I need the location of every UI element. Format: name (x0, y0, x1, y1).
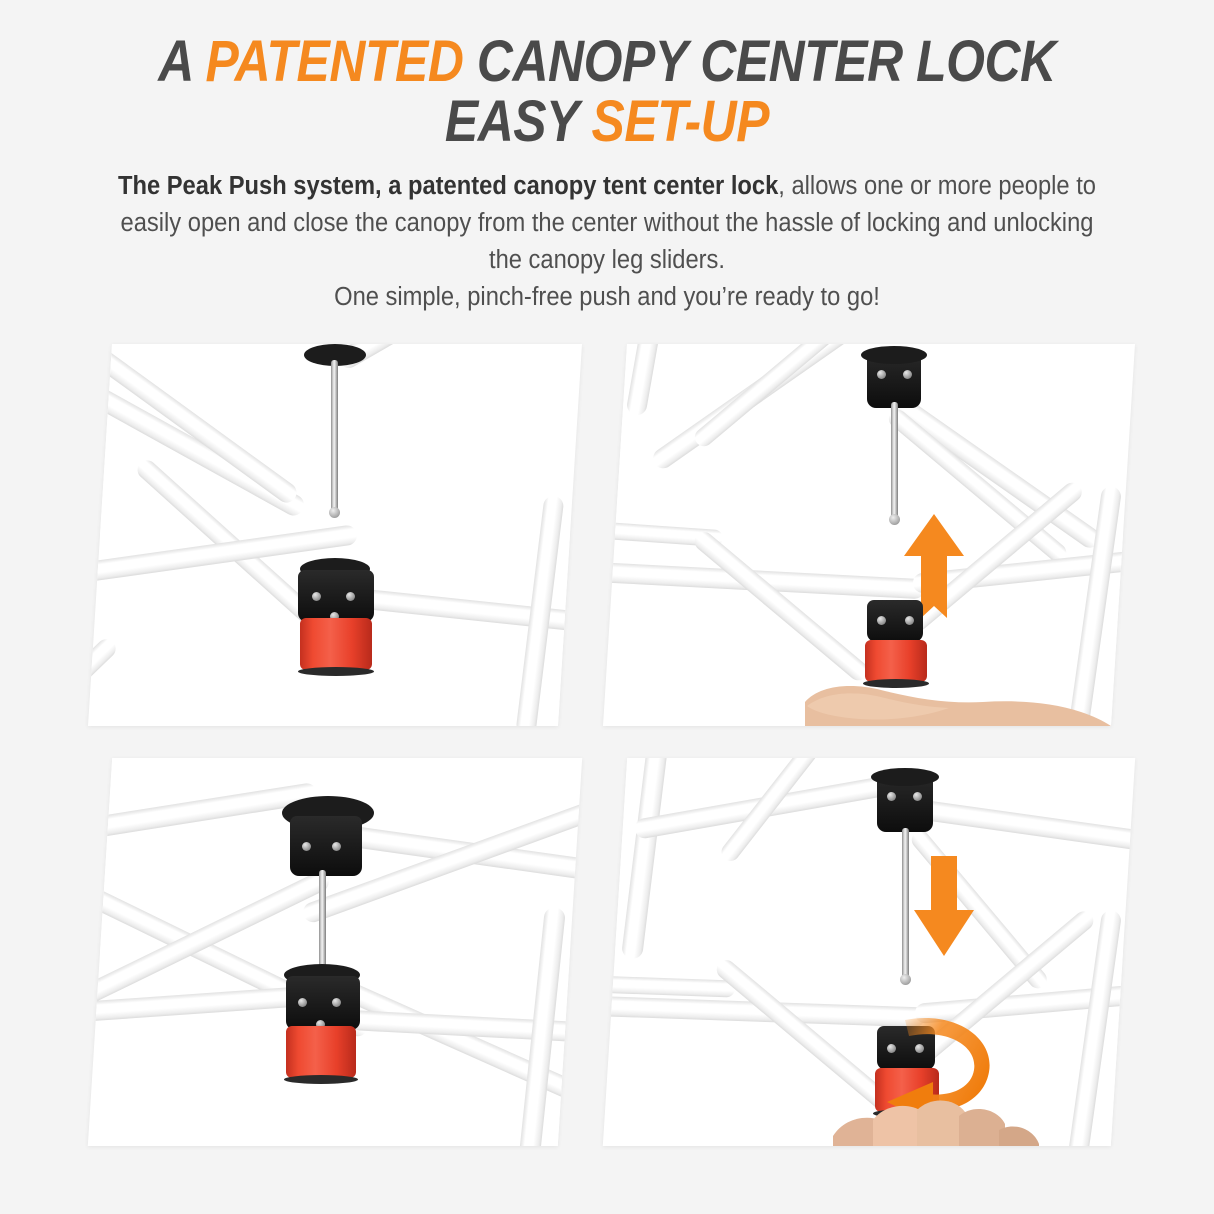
description-closing: One simple, pinch-free push and you’re r… (334, 283, 880, 311)
center-rod (319, 870, 326, 976)
arrow-down-icon (911, 854, 977, 958)
panel-locked-open-photo (100, 758, 570, 1146)
lower-hub-body (867, 600, 923, 642)
frame-tube (1068, 909, 1123, 1146)
hub-screw (298, 998, 307, 1007)
upper-hub-cap (871, 768, 939, 786)
hub-screw (332, 998, 341, 1007)
hub-screw (877, 616, 886, 625)
infographic-page: A PATENTED CANOPY CENTER LOCK EASY SET-U… (0, 0, 1214, 1214)
center-lock-red (286, 1026, 356, 1078)
center-rod (331, 360, 338, 512)
panel-push-up-photo (615, 344, 1123, 726)
frame-tube (605, 976, 736, 998)
headline-accent-patented: PATENTED (205, 29, 463, 94)
frame-tube (621, 758, 670, 960)
frame-tube (335, 344, 582, 372)
panel-folded-photo (100, 344, 570, 726)
center-lock-red (300, 618, 372, 670)
panel-twist-release (603, 758, 1135, 1146)
frame-tube (88, 344, 301, 507)
header: A PATENTED CANOPY CENTER LOCK EASY SET-U… (0, 0, 1214, 316)
panel-folded (88, 344, 582, 726)
rod-tip (900, 974, 911, 985)
panel-locked-open (88, 758, 582, 1146)
description-bold-lead: The Peak Push system, a patented canopy … (118, 172, 778, 200)
upper-hub-cap (861, 346, 927, 364)
hub-screw (913, 792, 922, 801)
upper-hub-body (290, 816, 362, 876)
hub-screw (903, 370, 912, 379)
page-title-line-1: A PATENTED CANOPY CENTER LOCK (85, 34, 1129, 90)
center-rod (902, 828, 909, 978)
hub-screw (312, 592, 321, 601)
headline-accent-setup: SET-UP (592, 89, 770, 154)
frame-tube (625, 344, 664, 417)
center-rod (891, 402, 898, 518)
panel-grid (0, 330, 1214, 1214)
panel-twist-release-photo (615, 758, 1123, 1146)
headline-text-a: A (158, 29, 205, 94)
page-title-line-2: EASY SET-UP (85, 94, 1129, 150)
frame-tube (649, 344, 865, 472)
description-paragraph: The Peak Push system, a patented canopy … (114, 168, 1100, 316)
hand-fingers-grip (833, 1080, 1053, 1146)
hub-screw (905, 616, 914, 625)
hub-screw (332, 842, 341, 851)
headline-text-canopy-center-lock: CANOPY CENTER LOCK (463, 29, 1055, 94)
rod-tip (889, 514, 900, 525)
frame-tube (691, 344, 879, 450)
hub-screw (302, 842, 311, 851)
headline-text-easy: EASY (445, 89, 592, 154)
frame-tube (88, 635, 120, 726)
panel-push-up (603, 344, 1135, 726)
hand-open-palm (801, 656, 1131, 726)
rod-tip (329, 507, 340, 518)
hub-screw (877, 370, 886, 379)
hub-screw (887, 792, 896, 801)
hub-screw (346, 592, 355, 601)
